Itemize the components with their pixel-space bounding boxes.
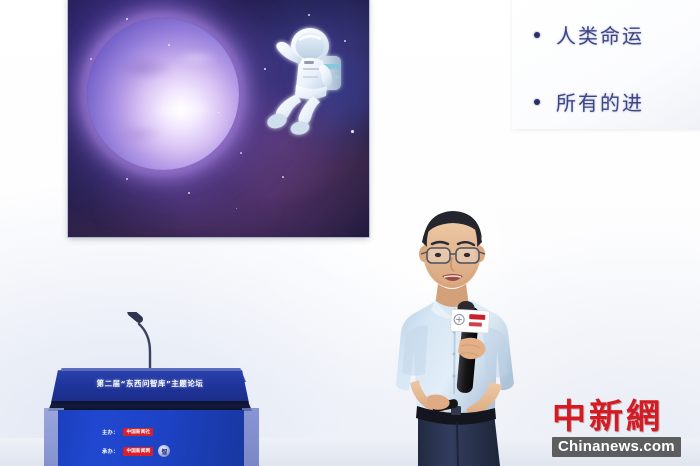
- slide-bullet-text: 人类命运: [556, 20, 644, 49]
- star-speck: [282, 176, 284, 178]
- watermark-chinese-text: 中新網: [552, 398, 692, 436]
- speaker-podium: 第二届“东西问智库”主题论坛 主办： 中国新闻社 承办： 中国新闻网 智: [44, 312, 259, 466]
- podium-front-panel: 主办： 中国新闻社 承办： 中国新闻网 智: [58, 410, 244, 466]
- bullet-dot-icon: [534, 32, 540, 38]
- sponsor-label: 承办：: [102, 448, 118, 455]
- star-speck: [126, 18, 128, 20]
- planet-surface-swirls: [87, 18, 239, 170]
- sponsor-row: 承办： 中国新闻网 智: [102, 445, 170, 457]
- star-speck: [188, 192, 190, 194]
- podium-right-edge: [242, 408, 259, 466]
- projection-screen-left: [68, 0, 369, 237]
- sponsor-logo-chip: 中国新闻社: [123, 428, 153, 436]
- astronaut-figure: [263, 14, 363, 139]
- star-speck: [90, 58, 92, 60]
- star-speck: [240, 152, 242, 154]
- sponsor-seal-icon: 智: [158, 445, 170, 457]
- watermark-english-text: Chinanews.com: [558, 438, 675, 455]
- slide-bullet-text: 所有的进: [556, 87, 644, 116]
- watermark-band: Chinanews.com: [552, 437, 681, 457]
- speaker-person: [372, 200, 540, 466]
- sponsor-label: 主办：: [102, 429, 118, 436]
- gooseneck-microphone-icon: [120, 312, 168, 374]
- mic-flag: [450, 309, 489, 333]
- sponsor-logo-chip: 中国新闻网: [123, 447, 153, 455]
- podium-banner-text: 第二届“东西问智库”主题论坛: [51, 378, 249, 389]
- screenshot-stage: 人类命运 所有的进 第二届“东西问智库”主题论坛 主办： 中国新闻社: [0, 0, 700, 466]
- chinanews-watermark: 中新網 Chinanews.com: [552, 398, 692, 460]
- slide-bullet-item: 所有的进: [534, 87, 644, 116]
- slide-bullet-item: 人类命运: [534, 20, 644, 49]
- projection-screen-right: 人类命运 所有的进: [512, 0, 700, 129]
- star-speck: [126, 178, 128, 180]
- sponsor-row: 主办： 中国新闻社: [102, 428, 170, 436]
- star-speck: [168, 44, 170, 46]
- bullet-dot-icon: [534, 99, 540, 105]
